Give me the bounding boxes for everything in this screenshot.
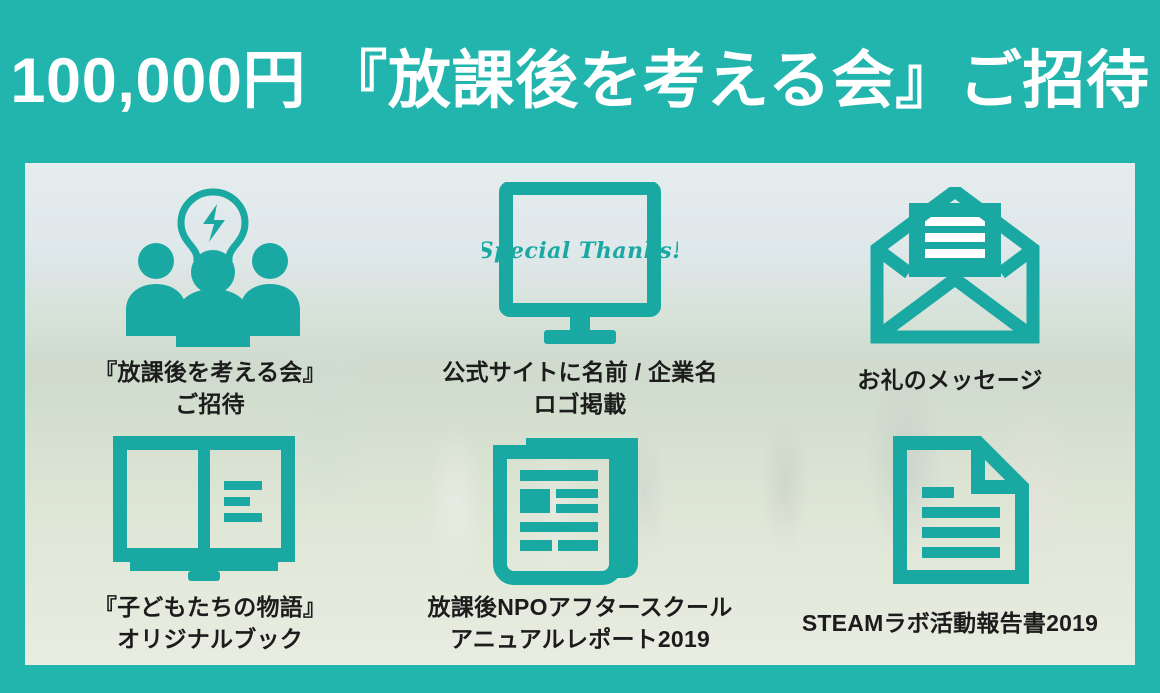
reward-item-website: Special Thanks! 公式サイトに名前 / 企業名 ロゴ掲載: [395, 163, 765, 420]
newspaper-icon: [490, 430, 660, 590]
monitor-icon: Special Thanks!: [482, 181, 678, 351]
caption-line-2: ご招待: [94, 389, 326, 421]
open-envelope-icon: [869, 181, 1041, 351]
caption-line-1: 放課後NPOアフタースクール: [428, 594, 733, 620]
reward-item-caption: 『放課後を考える会』 ご招待: [94, 357, 326, 420]
reward-item-invitation: 『放課後を考える会』 ご招待: [25, 163, 395, 420]
reward-item-caption: 公式サイトに名前 / 企業名 ロゴ掲載: [442, 357, 717, 420]
reward-item-steam-report: STEAMラボ活動報告書2019: [765, 420, 1135, 640]
banner-header: 100,000円 『放課後を考える会』ご招待: [0, 0, 1160, 163]
monitor-screen-text: Special Thanks!: [482, 238, 678, 264]
reward-item-message: お礼のメッセージ: [765, 163, 1135, 397]
reward-item-grid: 『放課後を考える会』 ご招待 Special Thanks! 公式サイトに名前 …: [25, 163, 1135, 665]
caption-line-2: ロゴ掲載: [442, 389, 717, 421]
reward-item-caption: 放課後NPOアフタースクール アニュアルレポート2019: [428, 592, 733, 655]
reward-item-caption: お礼のメッセージ: [857, 365, 1042, 397]
caption-line-2: オリジナルブック: [94, 624, 326, 656]
caption-line-2: アニュアルレポート2019: [428, 624, 733, 656]
reward-item-caption: 『子どもたちの物語』 オリジナルブック: [94, 592, 326, 655]
caption-line-1: 公式サイトに名前 / 企業名: [442, 359, 717, 385]
caption-line-1: STEAMラボ活動報告書2019: [802, 610, 1098, 636]
reward-item-annual-report: 放課後NPOアフタースクール アニュアルレポート2019: [395, 420, 765, 655]
reward-item-caption: STEAMラボ活動報告書2019: [802, 608, 1098, 640]
people-with-lightbulb-icon: [118, 181, 308, 351]
page-title: 100,000円 『放課後を考える会』ご招待: [10, 50, 1149, 113]
reward-photo-panel: 『放課後を考える会』 ご招待 Special Thanks! 公式サイトに名前 …: [25, 163, 1135, 665]
document-icon: [890, 430, 1032, 590]
reward-item-book: 『子どもたちの物語』 オリジナルブック: [25, 420, 395, 655]
caption-line-1: 『放課後を考える会』: [94, 359, 326, 385]
caption-line-1: お礼のメッセージ: [857, 367, 1042, 393]
caption-line-1: 『子どもたちの物語』: [94, 594, 326, 620]
reward-tier-banner: 100,000円 『放課後を考える会』ご招待: [0, 0, 1160, 693]
open-book-icon: [112, 430, 296, 590]
